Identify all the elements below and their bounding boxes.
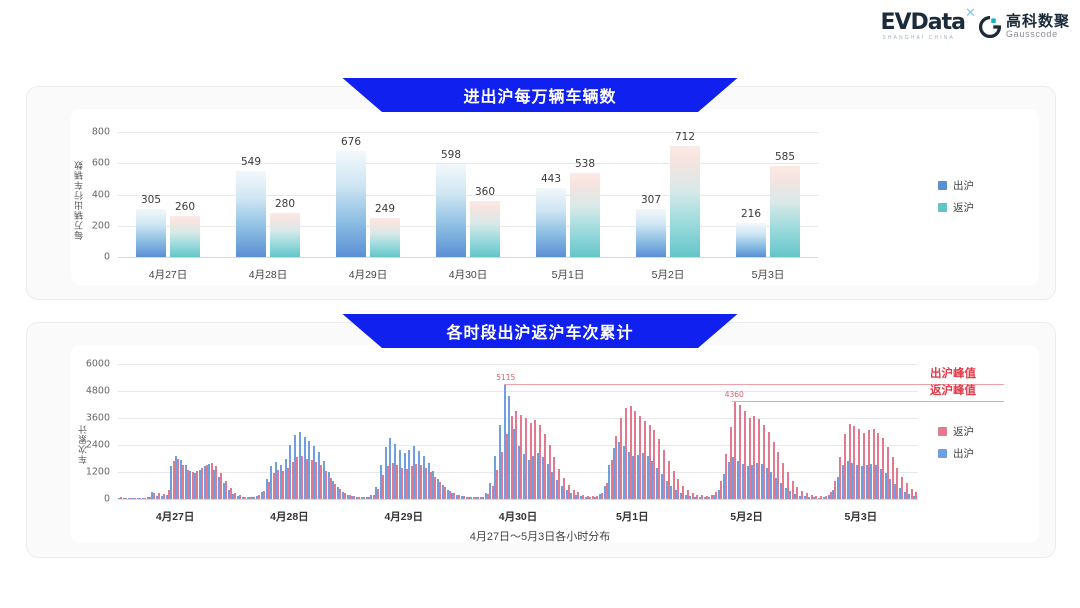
- chart2-x-label: 4月28日: [270, 509, 309, 524]
- chart2-legend-item[interactable]: 返沪: [938, 424, 974, 439]
- chart1-bar-out: 443: [536, 188, 566, 257]
- chart1-bar-value: 280: [275, 198, 295, 210]
- chart2-y-tick: 3600: [86, 413, 110, 424]
- gausscode-mark-icon: [979, 16, 1001, 38]
- chart2-gridline: [118, 418, 918, 419]
- chart1-bar-return: 280: [270, 213, 300, 257]
- chart1-bar-out: 549: [236, 171, 266, 257]
- chart1-x-label: 4月28日: [249, 267, 288, 282]
- chart1-bar-out: 216: [736, 223, 766, 257]
- chart2-y-tick: 4800: [86, 386, 110, 397]
- chart1-bars: 3052605492806762495983604435383077122165…: [118, 132, 818, 257]
- chart1-x-label: 5月1日: [552, 267, 585, 282]
- chart1-title-banner: 进出沪每万辆车辆数: [343, 78, 738, 112]
- chart1-y-tick: 200: [92, 220, 110, 231]
- chart1-x-label: 4月29日: [349, 267, 388, 282]
- chart1-bar-group: 443538: [536, 173, 600, 257]
- chart2-peak-refline: [732, 401, 1004, 402]
- chart2-hour-bar-return: [915, 492, 917, 499]
- chart1-bar-return: 585: [770, 166, 800, 257]
- chart2-gridline: [118, 364, 918, 365]
- chart1-y-axis-label: 每万辆出行车辆数: [72, 140, 85, 240]
- evdata-ev-text: EV: [880, 12, 910, 34]
- chart2-peak-refline: [504, 384, 1004, 385]
- chart1-bar-group: 216585: [736, 166, 800, 257]
- chart1-bar-group: 598360: [436, 164, 500, 257]
- slide-root: EV Data ✕ SHANGHAI CHINA 高科数聚 Gausscode …: [0, 0, 1080, 608]
- chart2-legend: 返沪出沪: [938, 424, 974, 461]
- chart2-x-label: 4月30日: [499, 509, 538, 524]
- chart1-bar-value: 360: [475, 186, 495, 198]
- chart1-bar-out: 305: [136, 209, 166, 257]
- chart1-bar-value: 585: [775, 151, 795, 163]
- chart2-legend-item[interactable]: 出沪: [938, 446, 974, 461]
- chart1-bar-return: 249: [370, 218, 400, 257]
- chart1-bar-group: 549280: [236, 171, 300, 257]
- chart1-y-tick: 600: [92, 158, 110, 169]
- chart2-title-banner: 各时段出沪返沪车次累计: [343, 314, 738, 348]
- chart1-bar-out: 307: [636, 209, 666, 257]
- chart1-bar-out: 598: [436, 164, 466, 257]
- chart1-legend-item[interactable]: 出沪: [938, 178, 974, 193]
- chart2-peak-value: 4360: [725, 390, 744, 399]
- chart2-legend-label: 返沪: [953, 424, 974, 439]
- chart1-y-tick: 400: [92, 189, 110, 200]
- chart1-x-label: 4月27日: [149, 267, 188, 282]
- chart1-bar-return: 712: [670, 146, 700, 257]
- evdata-x-icon: ✕: [965, 6, 976, 19]
- chart2-gridline: [118, 391, 918, 392]
- chart1-bar-group: 676249: [336, 151, 400, 257]
- evdata-logo: EV Data ✕ SHANGHAI CHINA: [880, 12, 965, 41]
- chart2-x-label: 5月3日: [845, 509, 878, 524]
- logo-bar: EV Data ✕ SHANGHAI CHINA 高科数聚 Gausscode: [880, 12, 1070, 41]
- chart1-bar-value: 549: [241, 156, 261, 168]
- chart2-x-label: 4月29日: [384, 509, 423, 524]
- gausscode-logo: 高科数聚 Gausscode: [979, 14, 1070, 39]
- chart1-bar-value: 305: [141, 194, 161, 206]
- gausscode-en-name: Gausscode: [1006, 30, 1070, 39]
- chart1-bar-group: 307712: [636, 146, 700, 257]
- chart1-plot: 每万辆出行车辆数 0200400600800 30526054928067624…: [118, 132, 818, 257]
- chart2-y-tick: 1200: [86, 467, 110, 478]
- chart1-y-tick: 0: [104, 252, 110, 263]
- chart2-x-label: 5月2日: [730, 509, 763, 524]
- chart2-axis-line: [118, 499, 918, 500]
- chart2-peak-value: 5115: [496, 373, 515, 382]
- chart2-subcaption: 4月27日～5月3日各小时分布: [470, 528, 611, 544]
- chart1-legend-label: 返沪: [953, 200, 974, 215]
- chart1-bar-return: 360: [470, 201, 500, 257]
- chart1-bar-value: 307: [641, 194, 661, 206]
- chart1-bar-value: 598: [441, 149, 461, 161]
- chart1-bar-value: 260: [175, 201, 195, 213]
- chart2-legend-swatch: [938, 427, 947, 436]
- chart1-bar-value: 249: [375, 203, 395, 215]
- chart1-y-tick: 800: [92, 127, 110, 138]
- chart1-axis-line: [118, 257, 818, 258]
- chart1-bar-value: 216: [741, 208, 761, 220]
- chart1-legend-item[interactable]: 返沪: [938, 200, 974, 215]
- chart2-legend-swatch: [938, 449, 947, 458]
- chart1-bar-group: 305260: [136, 209, 200, 257]
- chart2-x-label: 5月1日: [616, 509, 649, 524]
- chart1-bar-value: 712: [675, 131, 695, 143]
- chart2-peak-label: 返沪峰值: [930, 382, 976, 398]
- chart2-y-axis-label: 车次累计: [76, 394, 89, 464]
- chart2-y-tick: 6000: [86, 359, 110, 370]
- evdata-subtitle: SHANGHAI CHINA: [882, 36, 954, 41]
- chart1-legend: 出沪返沪: [938, 178, 974, 215]
- chart1-x-label: 4月30日: [449, 267, 488, 282]
- chart2-y-tick: 2400: [86, 440, 110, 451]
- evdata-data-text: Data: [911, 12, 965, 34]
- chart2-x-label: 4月27日: [156, 509, 195, 524]
- chart2-legend-label: 出沪: [953, 446, 974, 461]
- chart2-plot: 车次累计 012002400360048006000 5115出沪峰值4360返…: [118, 364, 918, 499]
- chart1-bar-return: 538: [570, 173, 600, 257]
- chart1-legend-label: 出沪: [953, 178, 974, 193]
- chart1-bar-return: 260: [170, 216, 200, 257]
- chart1-bar-value: 538: [575, 158, 595, 170]
- chart1-legend-swatch: [938, 203, 947, 212]
- chart1-x-label: 5月3日: [752, 267, 785, 282]
- chart1-x-label: 5月2日: [652, 267, 685, 282]
- chart2-peak-label: 出沪峰值: [930, 365, 976, 381]
- chart1-bar-out: 676: [336, 151, 366, 257]
- chart1-bar-value: 443: [541, 173, 561, 185]
- chart2-y-tick: 0: [104, 494, 110, 505]
- gausscode-cn-name: 高科数聚: [1006, 14, 1070, 30]
- chart1-bar-value: 676: [341, 136, 361, 148]
- chart1-legend-swatch: [938, 181, 947, 190]
